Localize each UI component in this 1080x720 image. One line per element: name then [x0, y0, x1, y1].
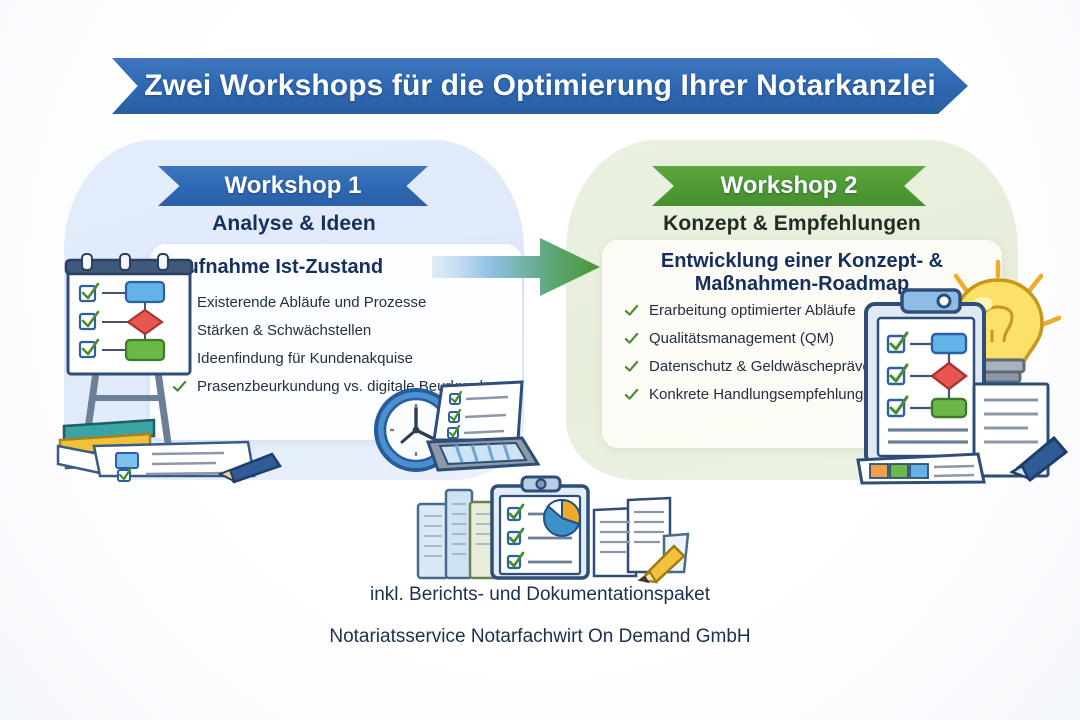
check-icon	[624, 387, 639, 402]
workshop-1-ribbon-label: Workshop 1	[225, 172, 362, 200]
check-icon	[624, 303, 639, 318]
workshop-1-ribbon: Workshop 1	[158, 166, 428, 206]
flipchart-easel-illustration	[58, 248, 308, 478]
page-title: Zwei Workshops für die Optimierung Ihrer…	[144, 69, 936, 103]
workshop-1-subtitle: Analyse & Ideen	[64, 212, 524, 236]
list-item-label: Konkrete Handlungsempfehlungen	[649, 386, 880, 403]
footer-company-name: Notariatsservice Notarfachwirt On Demand…	[0, 626, 1080, 648]
footer-package-note: inkl. Berichts- und Dokumentationspaket	[0, 584, 1080, 606]
check-icon	[624, 331, 639, 346]
list-item-label: Qualitätsmanagement (QM)	[649, 330, 834, 347]
report-package-illustration	[402, 472, 692, 582]
infographic-poster: Zwei Workshops für die Optimierung Ihrer…	[0, 0, 1080, 720]
workshop-2-ribbon: Workshop 2	[652, 166, 926, 206]
check-icon	[624, 359, 639, 374]
clock-and-laptop-illustration	[372, 368, 542, 478]
progress-arrow	[432, 236, 602, 298]
workshop-2-subtitle: Konzept & Empfehlungen	[566, 212, 1018, 236]
clipboard-lightbulb-illustration	[858, 268, 1068, 483]
list-item-label: Erarbeitung optimierter Abläufe	[649, 302, 856, 319]
workshop-2-ribbon-label: Workshop 2	[721, 172, 858, 200]
title-banner: Zwei Workshops für die Optimierung Ihrer…	[112, 58, 968, 114]
